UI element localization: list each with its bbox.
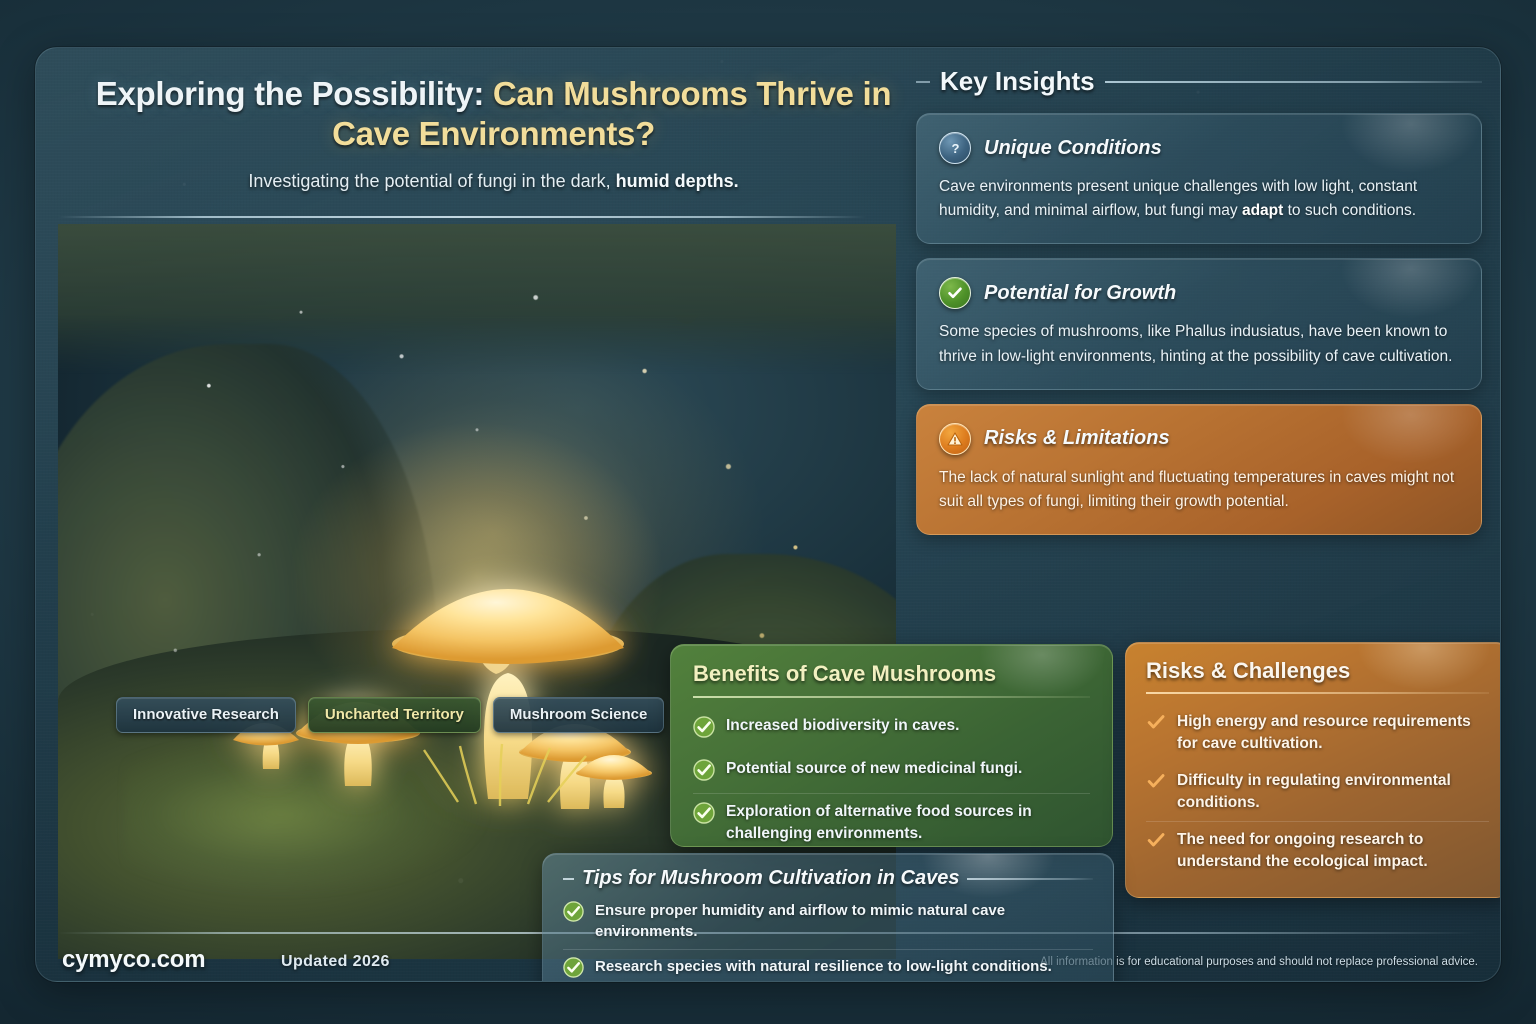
list-item: High energy and resource requirements fo… — [1146, 704, 1489, 762]
list-item: Potential source of new medicinal fungi. — [693, 750, 1090, 793]
section-dash — [916, 81, 930, 83]
check-circle-icon — [693, 802, 715, 829]
card-body: The lack of natural sunlight and fluctua… — [939, 466, 1459, 514]
check-circle-icon — [693, 716, 715, 743]
list-item: Difficulty in regulating environmental c… — [1146, 762, 1489, 821]
svg-text:?: ? — [951, 141, 959, 156]
key-insights-title: Key Insights — [940, 66, 1095, 97]
card-header: Potential for Growth — [939, 277, 1459, 309]
tag-innovative-research[interactable]: Innovative Research — [116, 697, 296, 733]
panel-highlight — [1329, 642, 1501, 708]
list-item-label: Potential source of new medicinal fungi. — [726, 758, 1022, 780]
card-header: ? Unique Conditions — [939, 132, 1459, 164]
check-circle-icon — [563, 901, 584, 927]
panel-highlight — [952, 644, 1113, 715]
section-dash — [563, 878, 574, 880]
question-icon: ? — [939, 132, 971, 164]
hero-illustration — [58, 224, 896, 959]
subtitle-plain: Investigating the potential of fungi in … — [248, 171, 615, 191]
key-insights-section: Key Insights ? Unique Conditions Cave en… — [916, 66, 1482, 549]
risks-list: High energy and resource requirements fo… — [1146, 704, 1489, 880]
tag-uncharted-territory[interactable]: Uncharted Territory — [308, 697, 481, 733]
brand-logo[interactable]: cymyco.com — [62, 946, 205, 974]
infographic-canvas: Exploring the Possibility: Can Mushrooms… — [0, 0, 1536, 1024]
check-circle-icon — [693, 759, 715, 786]
card-title: Unique Conditions — [984, 137, 1162, 160]
list-item: Research species with natural resilience… — [563, 949, 1093, 982]
benefits-panel: Benefits of Cave Mushrooms Increased bio… — [670, 644, 1113, 847]
risks-panel: Risks & Challenges High energy and resou… — [1125, 642, 1501, 898]
list-item-label: The need for ongoing research to underst… — [1177, 829, 1489, 873]
check-icon — [1146, 771, 1166, 796]
list-item: Exploration of alternative food sources … — [693, 793, 1090, 847]
list-item: The need for ongoing research to underst… — [1146, 821, 1489, 880]
insight-card-risks-limitations[interactable]: Risks & Limitations The lack of natural … — [916, 404, 1482, 535]
panel-highlight — [893, 853, 1083, 916]
mushroom-cluster-icon — [58, 224, 896, 959]
infographic-frame: Exploring the Possibility: Can Mushrooms… — [35, 47, 1501, 982]
list-item-label: Difficulty in regulating environmental c… — [1177, 770, 1489, 814]
key-insights-header: Key Insights — [916, 66, 1482, 97]
title-divider — [58, 216, 866, 218]
section-rule — [1105, 81, 1482, 83]
card-header: Risks & Limitations — [939, 423, 1459, 455]
check-icon — [1146, 830, 1166, 855]
card-body-bold: adapt — [1242, 202, 1283, 219]
benefits-list: Increased biodiversity in caves. Potenti… — [693, 708, 1090, 847]
card-title: Risks & Limitations — [984, 427, 1170, 450]
tag-mushroom-science[interactable]: Mushroom Science — [493, 697, 665, 733]
card-body-post: to such conditions. — [1283, 202, 1416, 219]
list-item-label: Exploration of alternative food sources … — [726, 801, 1090, 845]
subtitle-bold: humid depths. — [616, 171, 739, 191]
tag-row: Innovative Research Uncharted Territory … — [116, 697, 664, 733]
updated-label: Updated 2026 — [281, 953, 390, 971]
card-body: Some species of mushrooms, like Phallus … — [939, 320, 1459, 368]
list-item-label: High energy and resource requirements fo… — [1177, 711, 1489, 755]
title-block: Exploring the Possibility: Can Mushrooms… — [86, 74, 901, 192]
warning-triangle-icon — [939, 423, 971, 455]
tips-panel: Tips for Mushroom Cultivation in Caves E… — [542, 853, 1114, 982]
list-item-label: Research species with natural resilience… — [595, 956, 1052, 977]
page-title: Exploring the Possibility: Can Mushrooms… — [86, 74, 901, 155]
card-body: Cave environments present unique challen… — [939, 175, 1459, 223]
check-circle-icon — [939, 277, 971, 309]
list-item-label: Increased biodiversity in caves. — [726, 715, 959, 737]
insight-card-potential-for-growth[interactable]: Potential for Growth Some species of mus… — [916, 258, 1482, 389]
insight-card-unique-conditions[interactable]: ? Unique Conditions Cave environments pr… — [916, 113, 1482, 244]
page-subtitle: Investigating the potential of fungi in … — [86, 171, 901, 192]
check-circle-icon — [563, 957, 584, 982]
card-title: Potential for Growth — [984, 282, 1176, 305]
title-plain: Exploring the Possibility: — [96, 75, 484, 112]
check-icon — [1146, 712, 1166, 737]
